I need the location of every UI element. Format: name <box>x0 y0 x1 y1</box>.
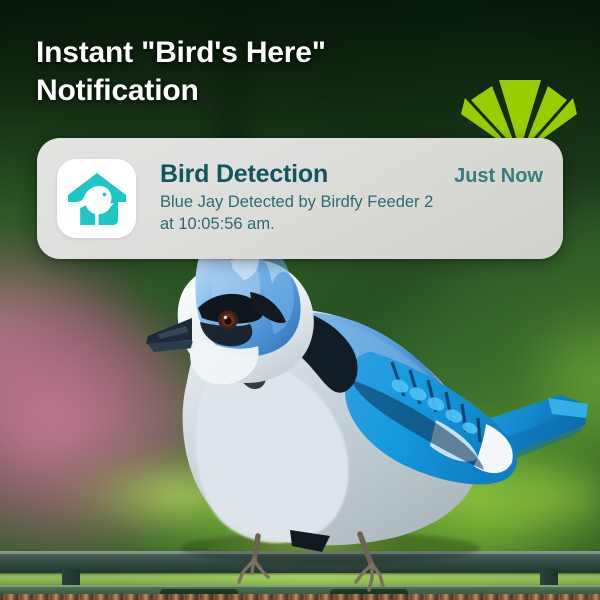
screenshot-canvas: Instant "Bird's Here" Notification <box>0 0 600 600</box>
headline-line-2: Notification <box>36 72 466 110</box>
notification-timestamp: Just Now <box>454 165 545 188</box>
notification-content: Bird Detection Just Now Blue Jay Detecte… <box>160 160 545 238</box>
notification-message-line-2: at 10:05:56 am. <box>160 214 545 236</box>
headline-line-1: Instant "Bird's Here" <box>36 34 466 72</box>
notification-header-row: Bird Detection Just Now <box>160 160 545 189</box>
notification-message-line-1: Blue Jay Detected by Birdfy Feeder 2 <box>160 192 545 214</box>
notification-card[interactable]: Bird Detection Just Now Blue Jay Detecte… <box>37 138 563 259</box>
birdhouse-icon-glyph <box>66 168 128 230</box>
birdhouse-app-icon <box>57 159 136 238</box>
notification-title: Bird Detection <box>160 160 328 189</box>
headline: Instant "Bird's Here" Notification <box>36 34 466 111</box>
notification-message: Blue Jay Detected by Birdfy Feeder 2 at … <box>160 192 545 236</box>
